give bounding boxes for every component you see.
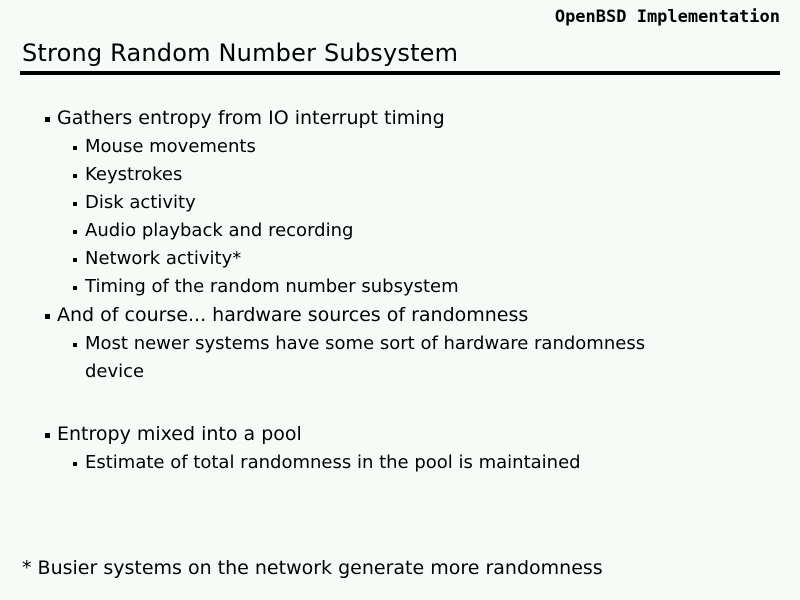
list-spacer: [0, 388, 800, 422]
list-item: Timing of the random number subsystem: [0, 275, 800, 303]
list-item: Most newer systems have some sort of har…: [0, 332, 800, 360]
list-item-label: Timing of the random number subsystem: [85, 275, 459, 299]
list-item: Mouse movements: [0, 135, 800, 163]
list-item-label: Audio playback and recording: [85, 219, 353, 243]
footnote-text: * Busier systems on the network generate…: [22, 556, 603, 580]
list-item-label: Disk activity: [85, 191, 196, 215]
list-item-label: Gathers entropy from IO interrupt timing: [57, 106, 445, 130]
slide-header-label: OpenBSD Implementation: [555, 6, 780, 28]
list-item-continuation: device: [0, 360, 800, 388]
list-item-label: device: [85, 360, 144, 384]
page-title: Strong Random Number Subsystem: [22, 38, 458, 68]
list-item: And of course... hardware sources of ran…: [0, 303, 800, 332]
bullet-list: Gathers entropy from IO interrupt timing…: [0, 106, 800, 479]
bullet-marker-icon: [73, 202, 77, 206]
bullet-marker-icon: [73, 146, 77, 150]
bullet-marker-icon: [45, 433, 50, 438]
list-item: Gathers entropy from IO interrupt timing: [0, 106, 800, 135]
bullet-marker-icon: [45, 117, 50, 122]
bullet-marker-icon: [73, 286, 77, 290]
bullet-marker-icon: [73, 462, 77, 466]
list-item: Network activity*: [0, 247, 800, 275]
list-item-label: Estimate of total randomness in the pool…: [85, 451, 581, 475]
list-item-label: Mouse movements: [85, 135, 256, 159]
list-item: Estimate of total randomness in the pool…: [0, 451, 800, 479]
list-item-label: Most newer systems have some sort of har…: [85, 332, 645, 356]
list-item: Entropy mixed into a pool: [0, 422, 800, 451]
title-divider: [20, 71, 780, 75]
list-item-label: Keystrokes: [85, 163, 182, 187]
list-item-label: Entropy mixed into a pool: [57, 422, 302, 446]
bullet-marker-icon: [73, 258, 77, 262]
list-item: Keystrokes: [0, 163, 800, 191]
bullet-marker-icon: [45, 314, 50, 319]
list-item-label: And of course... hardware sources of ran…: [57, 303, 528, 327]
slide-canvas: OpenBSD Implementation Strong Random Num…: [0, 0, 800, 600]
bullet-marker-icon: [73, 230, 77, 234]
bullet-marker-icon: [73, 343, 77, 347]
list-item: Disk activity: [0, 191, 800, 219]
list-item-label: Network activity*: [85, 247, 241, 271]
bullet-marker-icon: [73, 174, 77, 178]
list-item: Audio playback and recording: [0, 219, 800, 247]
